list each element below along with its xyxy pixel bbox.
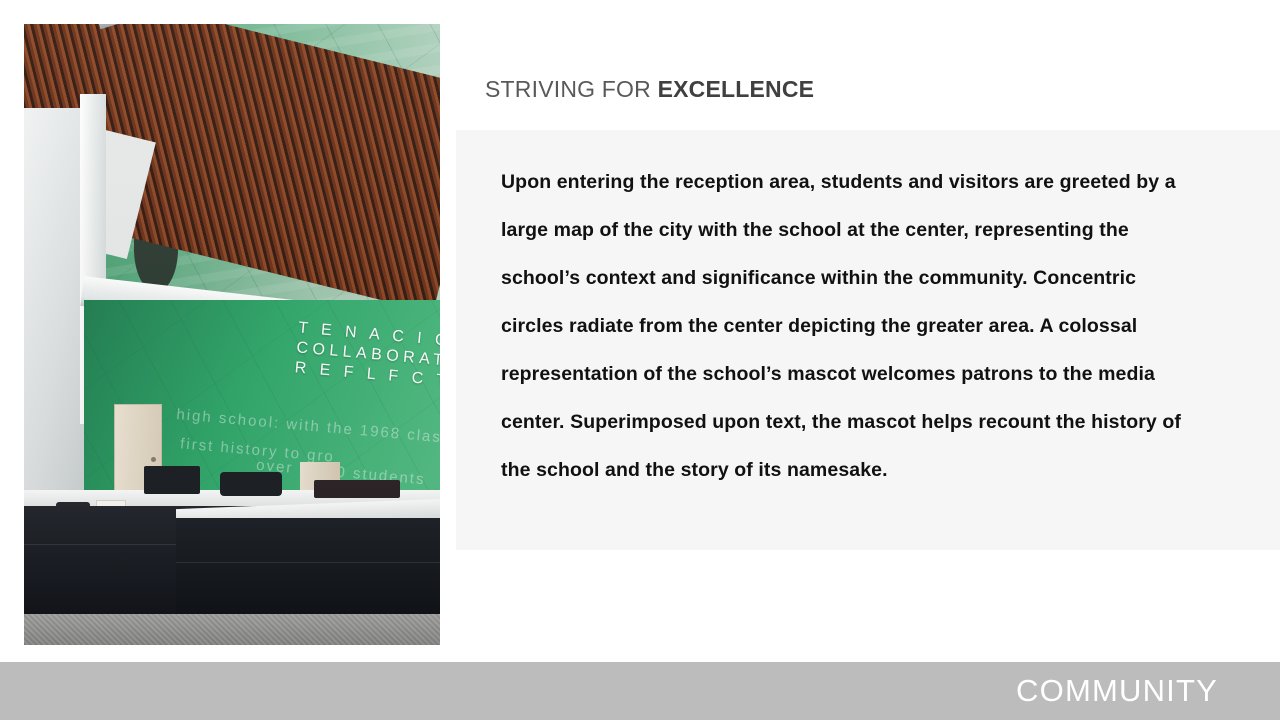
page-title-emphasis: EXCELLENCE	[658, 76, 815, 102]
photo-inner: Striving for excellence T E N A C I O U …	[24, 24, 440, 645]
ceiling-vent-icon	[93, 24, 156, 29]
desk-monitor	[220, 472, 282, 496]
description-paragraph: Upon entering the reception area, studen…	[501, 158, 1201, 494]
footer-section-label: COMMUNITY	[1016, 674, 1218, 708]
carpet-floor	[24, 614, 440, 645]
slide: Striving for excellence T E N A C I O U …	[0, 0, 1280, 720]
page-title: STRIVING FOR EXCELLENCE	[485, 76, 814, 103]
desk-seam	[176, 562, 440, 563]
desk-printer	[144, 466, 200, 494]
footer-bar: COMMUNITY	[0, 662, 1280, 720]
desk-equipment	[314, 480, 400, 498]
description-panel: Upon entering the reception area, studen…	[456, 130, 1280, 550]
page-title-prefix: STRIVING FOR	[485, 76, 658, 102]
reception-area-photo: Striving for excellence T E N A C I O U …	[24, 24, 440, 645]
door-knob-icon	[151, 457, 156, 462]
